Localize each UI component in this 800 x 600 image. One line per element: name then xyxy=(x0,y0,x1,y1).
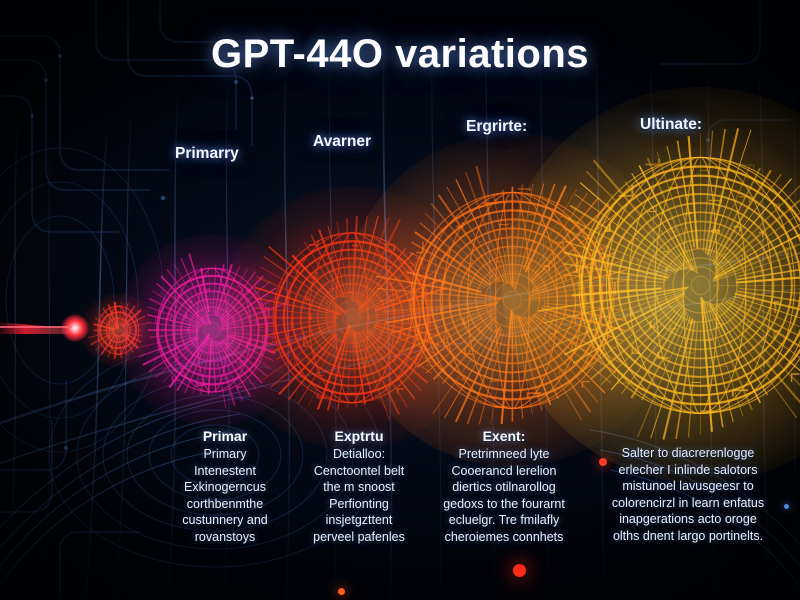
node-avarner xyxy=(220,186,484,450)
description-line: Detialloo: xyxy=(292,446,426,463)
sphere-core-hotspot xyxy=(81,293,155,367)
sphere-glow xyxy=(116,234,308,426)
description-line: custunnery and xyxy=(162,512,288,529)
node-ultinate xyxy=(502,87,800,484)
description-line: Cenctoontel belt xyxy=(292,463,426,480)
description-line: corthbenmthe xyxy=(162,496,288,513)
description-line: Perfionting xyxy=(292,496,426,513)
sphere-core-hotspot xyxy=(345,133,680,468)
column-header-ergrirte: Ergrirte: xyxy=(466,118,527,136)
description-line: Cooerancd lerelion xyxy=(426,463,582,480)
description-line: gedoxs to the fourarnt xyxy=(426,496,582,513)
sphere-glow xyxy=(345,133,680,468)
description-block-exent: Exent: Pretrimneed lyte Cooerancd lereli… xyxy=(426,428,582,545)
column-header-avarner: Avarner xyxy=(313,133,371,151)
page-title: GPT-44O variations xyxy=(0,32,800,77)
node-seed xyxy=(61,314,89,342)
description-line: Exkinogerncus xyxy=(162,479,288,496)
accent-dot xyxy=(338,588,345,595)
description-line: mistunoel lavusgeesr to xyxy=(586,478,790,495)
column-header-primarry: Primarry xyxy=(175,145,239,163)
sphere-glow xyxy=(61,314,89,342)
sphere-wireframe xyxy=(116,234,308,426)
sphere-glow xyxy=(81,293,155,367)
sphere-wireframe xyxy=(502,87,800,484)
sphere-glow xyxy=(502,87,800,484)
description-block-primary: Primar Primary Intenestent Exkinogerncus… xyxy=(162,428,288,545)
description-line: ecluelgr. Tre fmilafly xyxy=(426,512,582,529)
sphere-core-hotspot xyxy=(220,186,484,450)
sphere-core-hotspot xyxy=(502,87,800,484)
sphere-glow xyxy=(220,186,484,450)
seed-dot-core xyxy=(61,314,89,342)
description-line: inapgerations acto oroge xyxy=(586,511,790,528)
description-line: Pretrimneed lyte xyxy=(426,446,582,463)
node-ergrirte xyxy=(345,133,680,468)
description-heading: Primar xyxy=(162,428,288,444)
description-line: erlecher I inlinde salotors xyxy=(586,462,790,479)
description-line: cheroiemes connhets xyxy=(426,529,582,546)
description-heading: Exptrtu xyxy=(292,428,426,444)
description-line: diertics otilnarollog xyxy=(426,479,582,496)
description-line: Salter to diacrerenlogge xyxy=(586,445,790,462)
description-line: insjetgzttent xyxy=(292,512,426,529)
column-header-ultinate: Ultinate: xyxy=(640,116,702,134)
description-heading: Exent: xyxy=(426,428,582,444)
poster-canvas: GPT-44O variations Primarry Avarner Ergr… xyxy=(0,0,800,600)
description-block-exptrtu: Exptrtu Detialloo: Cenctoontel belt the … xyxy=(292,428,426,545)
description-block-ultinate: Salter to diacrerenlogge erlecher I inli… xyxy=(586,445,790,544)
accent-dot xyxy=(513,564,526,577)
sphere-wireframe xyxy=(220,186,484,450)
description-line: the m snoost xyxy=(292,479,426,496)
node-primary xyxy=(116,234,308,426)
node-tiny xyxy=(81,293,155,367)
description-line: olths dnent largo portinelts. xyxy=(586,528,790,545)
description-line: colorencirzl in learn enfatus xyxy=(586,495,790,512)
description-line: rovanstoys xyxy=(162,529,288,546)
description-line: Primary xyxy=(162,446,288,463)
sphere-wireframe xyxy=(345,133,680,468)
sphere-core-hotspot xyxy=(116,234,308,426)
description-line: perveel pafenles xyxy=(292,529,426,546)
description-line: Intenestent xyxy=(162,463,288,480)
sphere-wireframe xyxy=(81,293,155,367)
